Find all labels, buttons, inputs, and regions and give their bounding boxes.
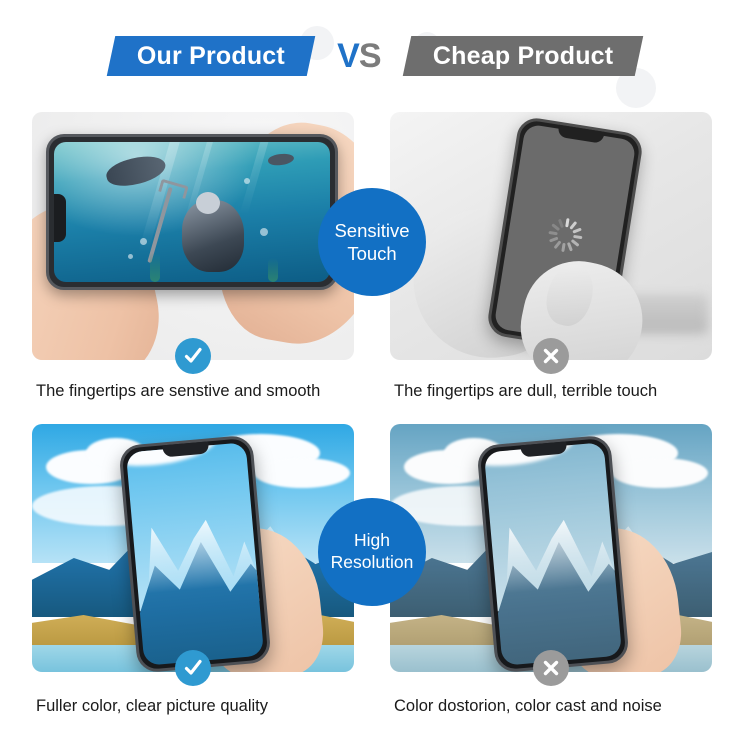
phone-portrait: [476, 435, 629, 672]
seaweed: [268, 258, 278, 282]
comparison-infographic: Our Product VS Cheap Product: [0, 0, 750, 750]
cheap-product-banner: Cheap Product: [402, 36, 643, 76]
status-badge-check: [175, 338, 211, 374]
cell-top-left: [32, 112, 354, 360]
cross-icon: [540, 657, 562, 679]
status-badge-check: [175, 650, 211, 686]
bubble: [140, 238, 147, 245]
caption-top-right: The fingertips are dull, terrible touch: [394, 382, 750, 401]
bubble: [260, 228, 268, 236]
scene-phone-loading: [390, 112, 712, 360]
bubble: [244, 178, 250, 184]
diver-silhouette-far: [267, 152, 294, 167]
our-product-label: Our Product: [137, 44, 285, 69]
phone-landscape: [46, 134, 338, 290]
status-badge-cross: [533, 338, 569, 374]
badge-line-2: Touch: [347, 242, 396, 265]
cell-bottom-left: [32, 424, 354, 672]
phone-screen-landscape-photo: [126, 442, 264, 666]
phone-screen-landscape-photo: [484, 442, 622, 666]
diver-helmet: [196, 192, 220, 214]
caption-bottom-right: Color dostorion, color cast and noise: [394, 697, 750, 716]
photo-color-distortion-cheap: [390, 424, 712, 672]
bubble: [128, 254, 133, 259]
cell-bottom-right: [390, 424, 712, 672]
loading-spinner-icon: [546, 215, 585, 254]
photo-dull-touch-cheap: [390, 112, 712, 360]
check-icon: [182, 657, 204, 679]
check-icon: [182, 345, 204, 367]
badge-line-1: High: [354, 530, 390, 552]
vs-letter-v: V: [337, 39, 359, 73]
status-badge-cross: [533, 650, 569, 686]
our-product-banner: Our Product: [107, 36, 316, 76]
photo-sensitive-touch-ours: [32, 112, 354, 360]
cell-top-right: [390, 112, 712, 360]
phone-portrait: [118, 435, 271, 672]
cheap-product-label: Cheap Product: [433, 44, 613, 69]
badge-high-resolution: High Resolution: [318, 498, 426, 606]
badge-sensitive-touch: Sensitive Touch: [318, 188, 426, 296]
cross-icon: [540, 345, 562, 367]
badge-line-2: Resolution: [331, 552, 414, 574]
photo-high-resolution-ours: [32, 424, 354, 672]
scene-mountain-dull-zoomed: [484, 442, 622, 666]
scene-underwater-game: [32, 112, 354, 360]
vs-letter-s: S: [359, 39, 381, 73]
cloud: [254, 458, 350, 488]
vs-label: VS: [337, 39, 380, 73]
seaweed: [150, 252, 160, 282]
badge-line-1: Sensitive: [334, 219, 409, 242]
cloud: [612, 458, 708, 488]
header: Our Product VS Cheap Product: [0, 22, 750, 90]
scene-mountain-vivid-zoomed: [126, 442, 264, 666]
phone-notch: [54, 194, 66, 242]
phone-screen-game: [54, 142, 330, 282]
